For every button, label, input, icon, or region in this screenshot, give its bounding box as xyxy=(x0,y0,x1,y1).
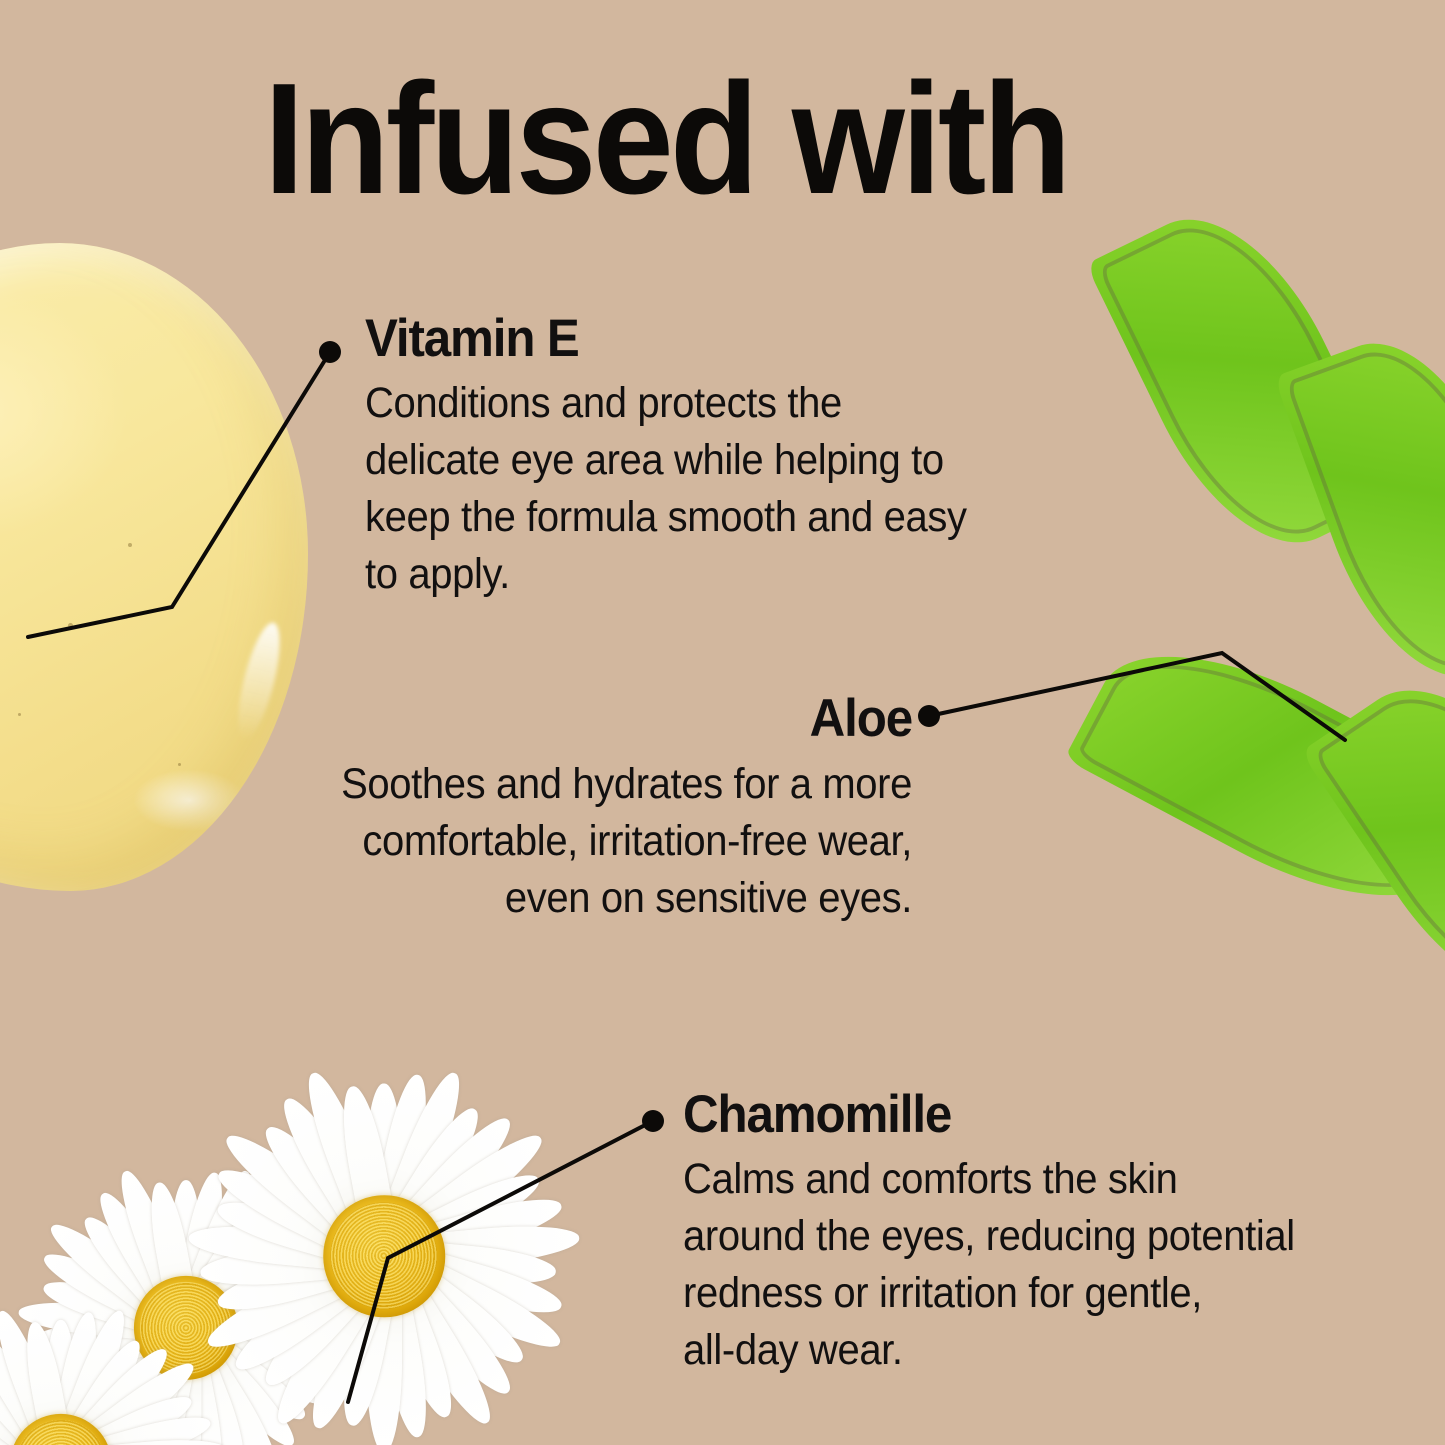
ingredient-block-aloe: Aloe Soothes and hydrates for a more com… xyxy=(212,692,912,927)
leader-dot-aloe xyxy=(918,705,940,727)
ingredient-body-vitamin-e: Conditions and protects the delicate eye… xyxy=(365,375,1035,603)
ingredient-heading-chamomille: Chamomille xyxy=(683,1088,1353,1142)
leader-line-aloe xyxy=(929,653,1345,740)
ingredient-body-aloe: Soothes and hydrates for a more comforta… xyxy=(261,756,912,927)
ingredient-body-chamomille: Calms and comforts the skin around the e… xyxy=(683,1151,1353,1379)
ingredient-block-chamomille: Chamomille Calms and comforts the skin a… xyxy=(683,1088,1403,1379)
page-title: Infused with xyxy=(264,60,1068,218)
ingredient-heading-aloe: Aloe xyxy=(261,692,912,746)
leader-dot-chamomille xyxy=(642,1110,664,1132)
leader-line-chamomille xyxy=(348,1121,653,1402)
ingredient-block-vitamin-e: Vitamin E Conditions and protects the de… xyxy=(365,312,1085,603)
leader-line-vitamin-e xyxy=(28,352,330,637)
infographic-canvas: Infused with Vitamin E Conditions and pr… xyxy=(0,0,1445,1445)
leader-dot-vitamin-e xyxy=(319,341,341,363)
ingredient-heading-vitamin-e: Vitamin E xyxy=(365,312,1035,366)
